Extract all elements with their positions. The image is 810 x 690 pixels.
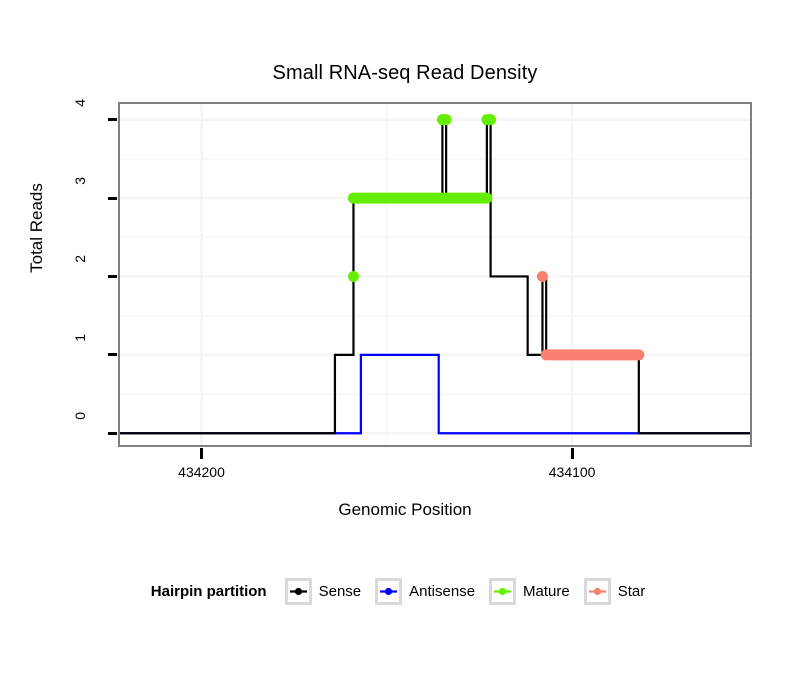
legend-key-sense-icon xyxy=(285,578,312,605)
chart-figure: Small RNA-seq Read Density Total Reads 0… xyxy=(0,0,810,690)
x-tick-label: 434200 xyxy=(142,464,262,480)
y-axis-title: Total Reads xyxy=(27,128,47,328)
legend-label: Star xyxy=(618,583,646,600)
plot-canvas xyxy=(120,104,750,445)
x-axis-title: Genomic Position xyxy=(0,500,810,520)
legend-label: Antisense xyxy=(409,583,475,600)
y-tick-mark xyxy=(108,197,117,200)
y-tick-label: 3 xyxy=(72,177,88,217)
legend-key-antisense-icon xyxy=(375,578,402,605)
y-tick-label: 1 xyxy=(72,334,88,374)
x-tick-mark xyxy=(200,448,203,459)
legend-key-mature-icon xyxy=(489,578,516,605)
legend-entry-antisense[interactable]: Antisense xyxy=(375,578,475,605)
y-tick-mark xyxy=(108,118,117,121)
chart-title: Small RNA-seq Read Density xyxy=(0,62,810,85)
x-tick-mark xyxy=(571,448,574,459)
legend-entry-sense[interactable]: Sense xyxy=(285,578,362,605)
y-tick-mark xyxy=(108,432,117,435)
plot-panel xyxy=(118,102,752,447)
y-tick-label: 0 xyxy=(72,412,88,452)
legend-label: Mature xyxy=(523,583,570,600)
legend-label: Sense xyxy=(319,583,362,600)
y-tick-label: 4 xyxy=(72,99,88,139)
chart-legend: Hairpin partition SenseAntisenseMatureSt… xyxy=(0,578,810,605)
legend-key-star-icon xyxy=(584,578,611,605)
legend-title: Hairpin partition xyxy=(151,583,267,600)
legend-entry-mature[interactable]: Mature xyxy=(489,578,570,605)
y-tick-mark xyxy=(108,275,117,278)
legend-entry-star[interactable]: Star xyxy=(584,578,646,605)
y-tick-mark xyxy=(108,353,117,356)
legend-entries: SenseAntisenseMatureStar xyxy=(285,578,660,605)
y-tick-label: 2 xyxy=(72,255,88,295)
x-tick-label: 434100 xyxy=(512,464,632,480)
